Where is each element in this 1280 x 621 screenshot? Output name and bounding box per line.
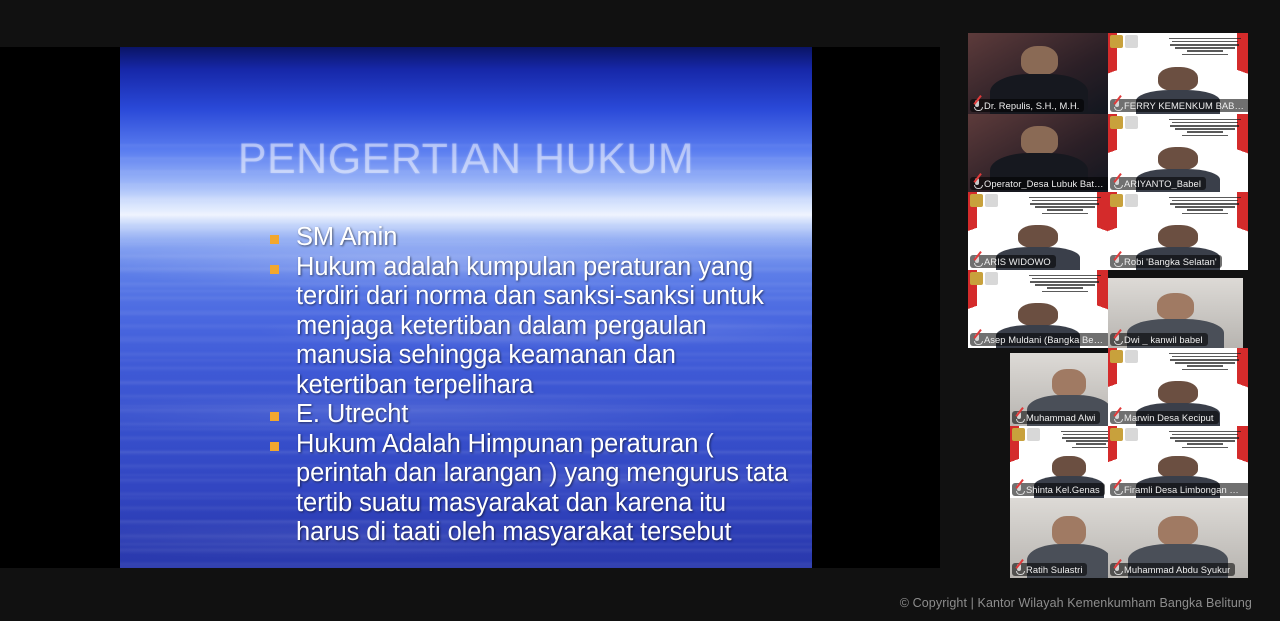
slide-bullet-item: SM Amin: [270, 223, 788, 253]
mic-muted-icon: [973, 334, 981, 345]
participant-name: Marwin Desa Keciput: [1124, 412, 1214, 423]
mic-muted-icon: [1113, 564, 1121, 575]
institution-logo-icon: [1110, 35, 1140, 48]
mic-muted-icon: [1113, 484, 1121, 495]
participant-tile[interactable]: FERRY KEMENKUM BABEL: [1108, 33, 1248, 114]
participant-tile[interactable]: Asep Muldani (Bangka Belitun...: [968, 270, 1108, 348]
participant-grid: Dr. Repulis, S.H., M.H.FERRY KEMENKUM BA…: [968, 33, 1248, 583]
participant-tile[interactable]: Dwi _ kanwil babel: [1108, 278, 1243, 348]
participant-name: ARIYANTO_Babel: [1124, 178, 1201, 189]
institution-logo-icon: [970, 272, 1000, 285]
participant-name: Muhammad Abdu Syukur: [1124, 564, 1230, 575]
participant-tile[interactable]: Firamli Desa Limbongan Keca...: [1108, 426, 1248, 498]
bullet-square-icon: [270, 235, 279, 244]
participant-nameplate: FERRY KEMENKUM BABEL: [1110, 99, 1248, 112]
participant-nameplate: Muhammad Alwi: [1012, 411, 1100, 424]
participant-silhouette: [1157, 293, 1195, 320]
slide-bullet-item: E. Utrecht: [270, 400, 788, 430]
mic-muted-icon: [973, 100, 981, 111]
participant-nameplate: ARIS WIDOWO: [970, 255, 1056, 268]
mic-muted-icon: [973, 256, 981, 267]
participant-tile[interactable]: ARIYANTO_Babel: [1108, 114, 1248, 192]
participant-name: Asep Muldani (Bangka Belitun...: [984, 334, 1105, 345]
participant-nameplate: Shinta Kel.Genas: [1012, 483, 1105, 496]
participant-name: Muhammad Alwi: [1026, 412, 1095, 423]
participant-name: Robi 'Bangka Selatan': [1124, 256, 1217, 267]
participant-name: Shinta Kel.Genas: [1026, 484, 1100, 495]
institution-logo-icon: [1110, 116, 1140, 129]
participant-silhouette: [1021, 126, 1057, 154]
participant-silhouette: [1052, 456, 1085, 478]
screenshare-stage: PENGERTIAN HUKUM SM Amin Hukum adalah ku…: [0, 47, 940, 568]
banner-text-lines: [1166, 195, 1244, 216]
slide-bullet-item: Hukum Adalah Himpunan peraturan ( perint…: [270, 430, 788, 548]
participant-name: Dr. Repulis, S.H., M.H.: [984, 100, 1079, 111]
participant-nameplate: Robi 'Bangka Selatan': [1110, 255, 1222, 268]
bullet-square-icon: [270, 265, 279, 274]
participant-nameplate: Asep Muldani (Bangka Belitun...: [970, 333, 1108, 346]
slide-bullet-text: Hukum Adalah Himpunan peraturan ( perint…: [296, 430, 788, 548]
bullet-square-icon: [270, 412, 279, 421]
slide-bullet-list: SM Amin Hukum adalah kumpulan peraturan …: [270, 223, 788, 548]
participant-name: FERRY KEMENKUM BABEL: [1124, 100, 1245, 111]
participant-nameplate: Dr. Repulis, S.H., M.H.: [970, 99, 1084, 112]
banner-text-lines: [1166, 351, 1244, 372]
slide-bullet-text: Hukum adalah kumpulan peraturan yang ter…: [296, 253, 788, 401]
banner-text-lines: [1166, 429, 1244, 450]
participant-name: Firamli Desa Limbongan Keca...: [1124, 484, 1245, 495]
participant-tile[interactable]: ARIS WIDOWO: [968, 192, 1108, 270]
participant-silhouette: [1158, 147, 1197, 170]
slide-bullet-item: Hukum adalah kumpulan peraturan yang ter…: [270, 253, 788, 401]
participant-silhouette: [1158, 225, 1197, 248]
participant-nameplate: Operator_Desa Lubuk Bateng: [970, 177, 1108, 190]
participant-nameplate: Marwin Desa Keciput: [1110, 411, 1219, 424]
banner-text-lines: [1026, 273, 1104, 294]
participant-name: ARIS WIDOWO: [984, 256, 1051, 267]
mic-muted-icon: [1015, 564, 1023, 575]
mic-muted-icon: [1113, 334, 1121, 345]
participant-nameplate: Firamli Desa Limbongan Keca...: [1110, 483, 1248, 496]
participant-tile[interactable]: Robi 'Bangka Selatan': [1108, 192, 1248, 270]
participant-silhouette: [1158, 381, 1197, 404]
mic-muted-icon: [1113, 412, 1121, 423]
copyright-text: © Copyright | Kantor Wilayah Kemenkumham…: [900, 596, 1252, 610]
participant-nameplate: Muhammad Abdu Syukur: [1110, 563, 1235, 576]
participant-silhouette: [1021, 46, 1057, 75]
institution-logo-icon: [1110, 350, 1140, 363]
participant-name: Ratih Sulastri: [1026, 564, 1082, 575]
participant-name: Dwi _ kanwil babel: [1124, 334, 1203, 345]
participant-tile[interactable]: Dr. Repulis, S.H., M.H.: [968, 33, 1108, 114]
mic-muted-icon: [1015, 484, 1023, 495]
mic-muted-icon: [1113, 256, 1121, 267]
participant-silhouette: [1158, 456, 1197, 478]
participant-silhouette: [1018, 303, 1057, 326]
participant-nameplate: Ratih Sulastri: [1012, 563, 1087, 576]
institution-logo-icon: [1110, 428, 1140, 441]
slide-bullet-text: E. Utrecht: [296, 400, 408, 430]
participant-silhouette: [1158, 516, 1197, 546]
participant-silhouette: [1052, 369, 1085, 397]
slide-bullet-text: SM Amin: [296, 223, 397, 253]
mic-muted-icon: [1015, 412, 1023, 423]
institution-logo-icon: [1110, 194, 1140, 207]
participant-silhouette: [1018, 225, 1057, 248]
participant-name: Operator_Desa Lubuk Bateng: [984, 178, 1105, 189]
mic-muted-icon: [973, 178, 981, 189]
participant-nameplate: ARIYANTO_Babel: [1110, 177, 1206, 190]
banner-text-lines: [1026, 195, 1104, 216]
participant-silhouette: [1158, 67, 1197, 91]
bullet-square-icon: [270, 442, 279, 451]
footer-bar: © Copyright | Kantor Wilayah Kemenkumham…: [0, 583, 1280, 621]
participant-nameplate: Dwi _ kanwil babel: [1110, 333, 1208, 346]
mic-muted-icon: [1113, 178, 1121, 189]
banner-text-lines: [1166, 117, 1244, 138]
mic-muted-icon: [1113, 100, 1121, 111]
participant-tile[interactable]: Operator_Desa Lubuk Bateng: [968, 114, 1108, 192]
institution-logo-icon: [970, 194, 1000, 207]
participant-silhouette: [1052, 516, 1085, 546]
presentation-slide: PENGERTIAN HUKUM SM Amin Hukum adalah ku…: [120, 47, 812, 568]
institution-logo-icon: [1012, 428, 1042, 441]
slide-title: PENGERTIAN HUKUM: [120, 135, 812, 184]
participant-tile[interactable]: Marwin Desa Keciput: [1108, 348, 1248, 426]
banner-text-lines: [1166, 36, 1244, 57]
participant-tile[interactable]: Muhammad Abdu Syukur: [1108, 498, 1248, 578]
